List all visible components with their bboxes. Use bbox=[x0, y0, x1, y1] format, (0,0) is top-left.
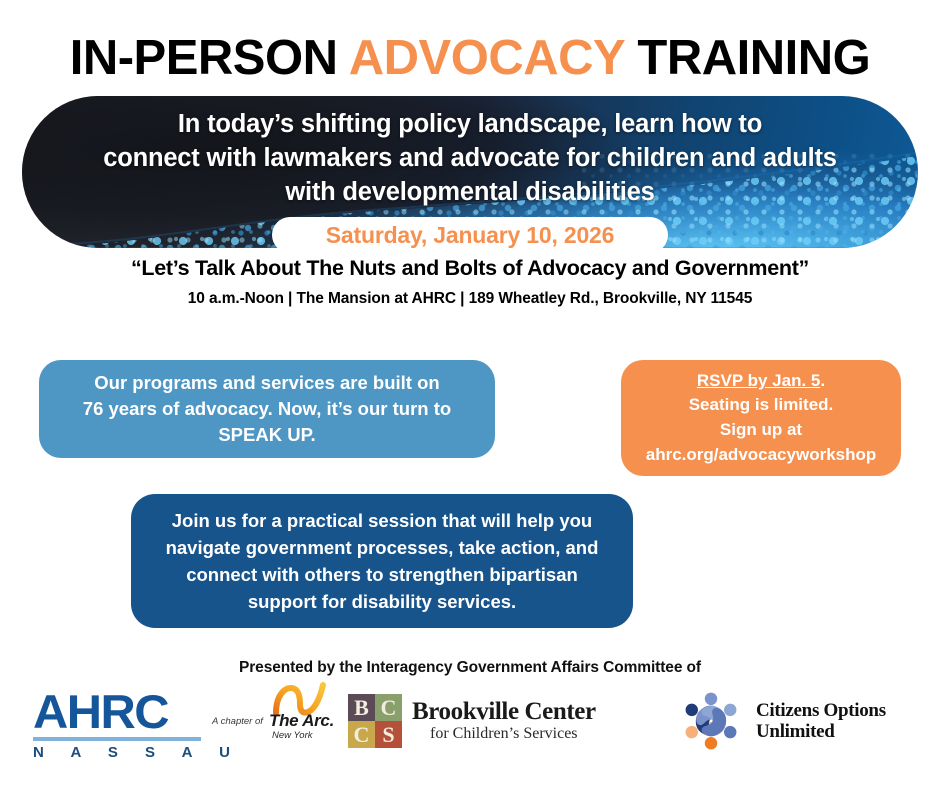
logo-arc-chapter-of: A chapter of bbox=[212, 716, 263, 727]
callout-session-line-1: Join us for a practical session that wil… bbox=[131, 507, 633, 534]
bccs-tagline: for Children’s Services bbox=[430, 725, 596, 743]
cou-wordmark: Citizens Options Unlimited bbox=[756, 700, 886, 743]
people-circle-icon bbox=[674, 684, 748, 758]
event-theme-quote: “Let’s Talk About The Nuts and Bolts of … bbox=[0, 256, 940, 281]
callout-advocacy-history: Our programs and services are built on 7… bbox=[39, 360, 495, 458]
bccs-monogram-icon: B C C S bbox=[348, 694, 402, 748]
event-time-and-address: 10 a.m.-Noon | The Mansion at AHRC | 189… bbox=[0, 290, 940, 308]
sponsor-logo-strip: AHRC N A S S A U A chapter of The Arc. N… bbox=[0, 676, 940, 776]
cou-name-line-2: Unlimited bbox=[756, 721, 886, 742]
callout-rsvp[interactable]: RSVP by Jan. 5. Seating is limited. Sign… bbox=[621, 360, 901, 476]
page-title-part1: IN-PERSON bbox=[70, 31, 349, 85]
event-date-text: Saturday, January 10, 2026 bbox=[326, 222, 614, 249]
logo-arc-region: New York bbox=[272, 730, 312, 741]
rsvp-deadline-period: . bbox=[820, 371, 825, 390]
event-date-pill: Saturday, January 10, 2026 bbox=[272, 217, 668, 253]
bccs-cell-s: S bbox=[375, 721, 402, 748]
rsvp-signup-url[interactable]: ahrc.org/advocacyworkshop bbox=[621, 443, 901, 468]
logo-citizens-options-unlimited: Citizens Options Unlimited bbox=[674, 684, 886, 758]
bccs-cell-c1: C bbox=[375, 694, 402, 721]
logo-the-arc-new-york: A chapter of The Arc. New York bbox=[212, 690, 340, 752]
callout-session-description: Join us for a practical session that wil… bbox=[131, 494, 633, 628]
hero-line-1: In today’s shifting policy landscape, le… bbox=[22, 108, 918, 142]
cou-name-line-1: Citizens Options bbox=[756, 700, 886, 721]
rsvp-seating-note: Seating is limited. bbox=[621, 393, 901, 418]
page-title-highlight: ADVOCACY bbox=[349, 31, 625, 85]
logo-ahrc-wordmark: AHRC bbox=[33, 690, 208, 735]
hero-text: In today’s shifting policy landscape, le… bbox=[22, 108, 918, 210]
callout-advocacy-history-line-2: 76 years of advocacy. Now, it’s our turn… bbox=[39, 396, 495, 422]
hero-line-3: with developmental disabilities bbox=[22, 176, 918, 210]
logo-arc-name: The Arc. bbox=[269, 711, 334, 731]
bccs-cell-c2: C bbox=[348, 721, 375, 748]
page-title-part2: TRAINING bbox=[624, 31, 870, 85]
bccs-name: Brookville Center bbox=[412, 699, 596, 725]
callout-advocacy-history-line-1: Our programs and services are built on bbox=[39, 370, 495, 396]
bccs-wordmark: Brookville Center for Children’s Service… bbox=[412, 699, 596, 743]
callout-session-line-2: navigate government processes, take acti… bbox=[131, 534, 633, 561]
callout-session-line-4: support for disability services. bbox=[131, 588, 633, 615]
logo-ahrc-nassau: AHRC N A S S A U bbox=[33, 690, 201, 761]
bccs-cell-b: B bbox=[348, 694, 375, 721]
callout-session-line-3: connect with others to strengthen bipart… bbox=[131, 561, 633, 588]
rsvp-deadline-line: RSVP by Jan. 5. bbox=[621, 369, 901, 394]
logo-brookville-center: B C C S Brookville Center for Children’s… bbox=[348, 692, 596, 750]
hero-line-2: connect with lawmakers and advocate for … bbox=[22, 142, 918, 176]
callout-advocacy-history-line-3: SPEAK UP. bbox=[39, 422, 495, 448]
rsvp-signup-label: Sign up at bbox=[621, 418, 901, 443]
page-title: IN-PERSON ADVOCACY TRAINING bbox=[0, 34, 940, 83]
presented-by-label: Presented by the Interagency Government … bbox=[0, 659, 940, 677]
logo-ahrc-region: N A S S A U bbox=[33, 744, 201, 761]
rsvp-deadline-underlined: RSVP by Jan. 5 bbox=[697, 371, 820, 390]
